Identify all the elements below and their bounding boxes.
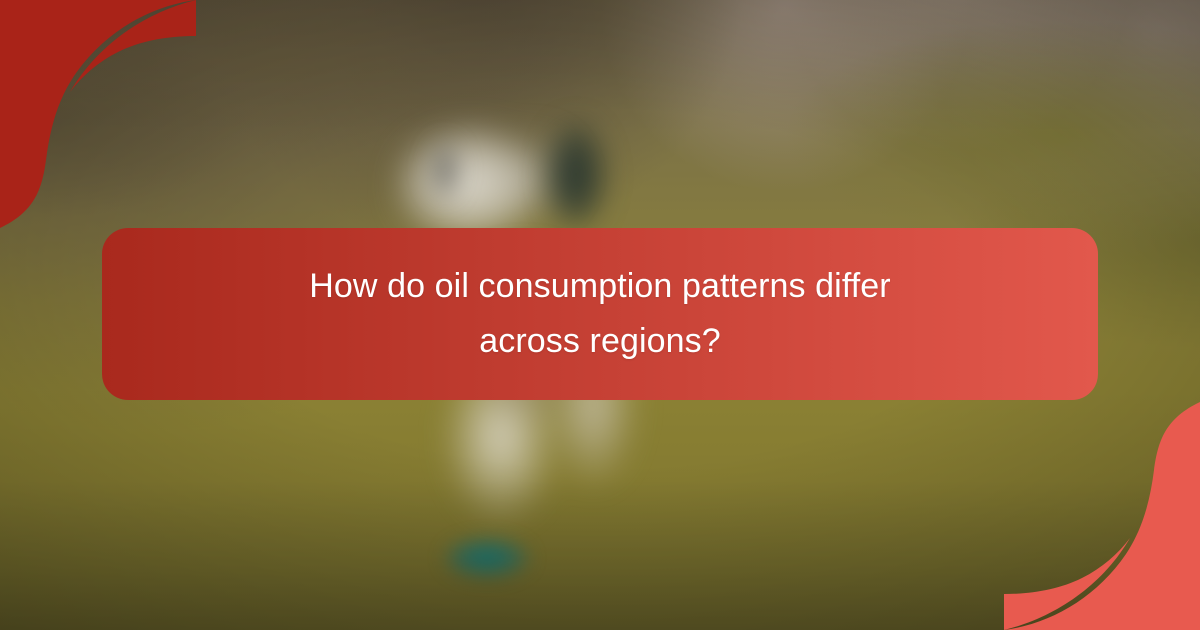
question-card: How do oil consumption patterns differ a…	[0, 0, 1200, 630]
question-banner: How do oil consumption patterns differ a…	[102, 228, 1098, 400]
question-text: How do oil consumption patterns differ a…	[309, 259, 890, 369]
